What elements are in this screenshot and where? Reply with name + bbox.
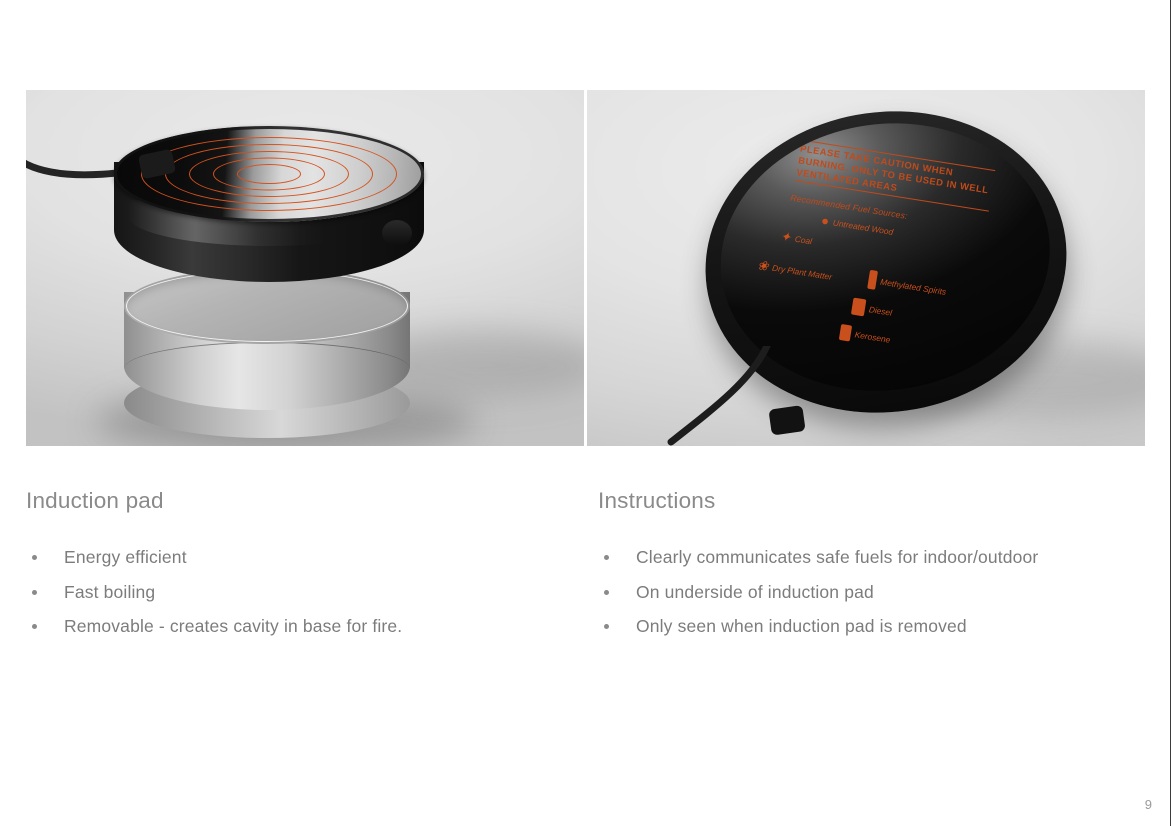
list-item-text: Only seen when induction pad is removed [636, 616, 967, 636]
jerry-can-icon [851, 298, 866, 317]
column-instructions: Instructions Clearly communicates safe f… [598, 487, 1138, 650]
pad-knob [382, 220, 412, 246]
base-seam [124, 342, 410, 396]
list-item: Only seen when induction pad is removed [598, 615, 1138, 639]
bullet-dot-icon [604, 624, 609, 629]
list-item: On underside of induction pad [598, 581, 1138, 605]
fuel-label: Kerosene [854, 329, 891, 344]
fuel-label: Methylated Spirits [880, 276, 947, 296]
column-heading: Instructions [598, 487, 1138, 514]
list-item: Removable - creates cavity in base for f… [26, 615, 566, 639]
image-strip: PLEASE TAKE CAUTION WHEN BURNING. ONLY T… [26, 90, 1145, 446]
list-item: Clearly communicates safe fuels for indo… [598, 546, 1138, 570]
fuel-methylated-spirits: Methylated Spirits [867, 270, 948, 301]
list-item-text: On underside of induction pad [636, 582, 874, 602]
bullet-list: Energy efficient Fast boiling Removable … [26, 546, 566, 639]
fuel-label: Diesel [868, 304, 893, 318]
bullet-dot-icon [604, 590, 609, 595]
list-item-text: Energy efficient [64, 547, 187, 567]
list-item-text: Removable - creates cavity in base for f… [64, 616, 402, 636]
list-item: Fast boiling [26, 581, 566, 605]
coal-lumps-icon: ✦ [779, 229, 792, 244]
canister-icon [839, 324, 852, 342]
list-item: Energy efficient [26, 546, 566, 570]
column-induction-pad: Induction pad Energy efficient Fast boil… [26, 487, 566, 650]
page-number: 9 [1145, 797, 1152, 812]
bullet-list: Clearly communicates safe fuels for indo… [598, 546, 1138, 639]
bullet-dot-icon [32, 624, 37, 629]
bullet-dot-icon [604, 555, 609, 560]
bullet-dot-icon [32, 555, 37, 560]
fuel-diesel: Diesel [851, 298, 893, 321]
induction-pad [114, 126, 424, 326]
leaf-sprig-icon: ❀ [757, 258, 770, 273]
bottle-icon [867, 270, 878, 290]
fuel-label: Untreated Wood [832, 217, 894, 236]
fuel-dry-plant-matter: ❀ Dry Plant Matter [757, 258, 834, 283]
fuel-coal: ✦ Coal [779, 229, 813, 247]
column-heading: Induction pad [26, 487, 566, 514]
photo-induction-pad-lifted [26, 90, 584, 446]
list-item-text: Fast boiling [64, 582, 155, 602]
photo-induction-pad-underside: PLEASE TAKE CAUTION WHEN BURNING. ONLY T… [587, 90, 1145, 446]
slide: PLEASE TAKE CAUTION WHEN BURNING. ONLY T… [0, 0, 1172, 826]
fuel-label: Dry Plant Matter [771, 262, 832, 281]
fuel-sources-heading: Recommended Fuel Sources: [790, 193, 909, 221]
fuel-kerosene: Kerosene [839, 324, 892, 348]
fuel-label: Coal [794, 233, 813, 246]
bullet-dot-icon [32, 590, 37, 595]
power-cable-icon [647, 346, 807, 446]
list-item-text: Clearly communicates safe fuels for indo… [636, 547, 1038, 567]
page-edge [1170, 0, 1171, 826]
log-icon: ● [820, 214, 830, 228]
